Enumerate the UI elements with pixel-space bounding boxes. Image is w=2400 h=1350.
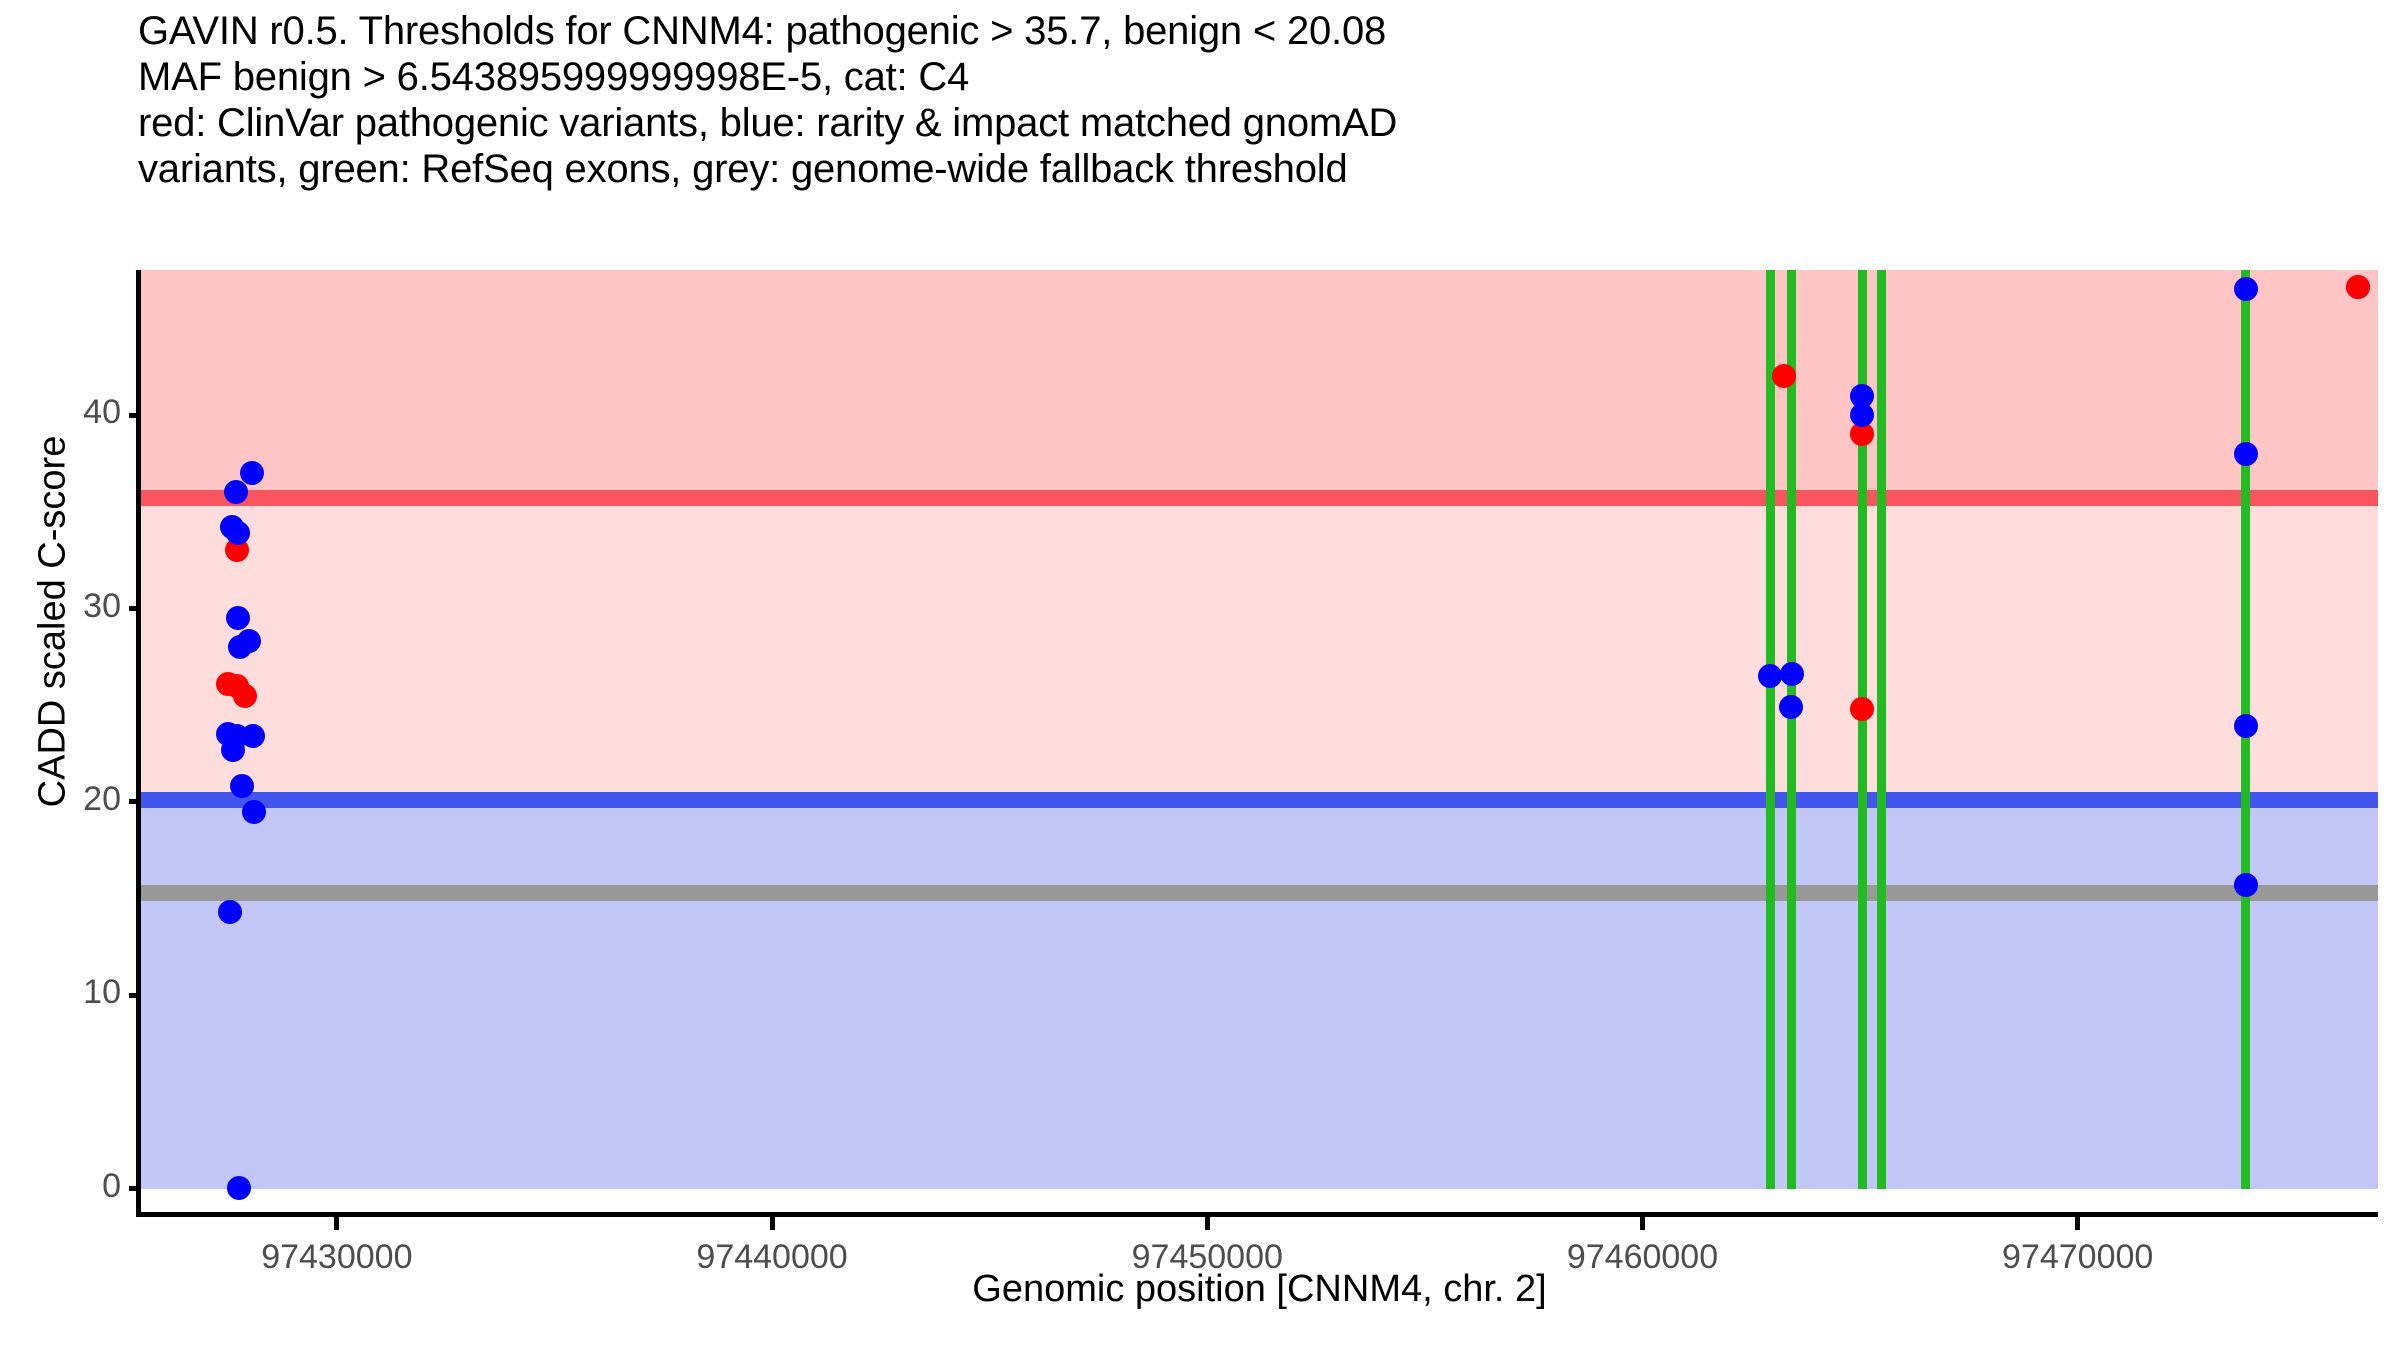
band-benign	[141, 800, 2378, 1188]
y-axis-tick	[129, 1186, 141, 1191]
gnomad-variant-point	[240, 461, 264, 485]
title-line-1: GAVIN r0.5. Thresholds for CNNM4: pathog…	[138, 8, 2338, 54]
gnomad-variant-point	[224, 480, 248, 504]
gnomad-variant-point	[2234, 277, 2258, 301]
y-axis-line	[136, 270, 141, 1212]
gnomad-variant-point	[226, 606, 250, 630]
x-axis-tick	[1640, 1216, 1645, 1230]
gnomad-variant-point	[1758, 664, 1782, 688]
title-line-3: red: ClinVar pathogenic variants, blue: …	[138, 100, 2338, 146]
exon-line	[1787, 270, 1796, 1189]
threshold-line-fallback	[141, 885, 2378, 901]
exon-line	[1766, 270, 1775, 1189]
gnomad-variant-point	[2234, 442, 2258, 466]
y-axis-tick	[129, 606, 141, 611]
gnomad-variant-point	[1779, 695, 1803, 719]
threshold-line-pathogenic	[141, 490, 2378, 506]
plot-panel: 0102030409743000097440000974500009746000…	[141, 270, 2378, 1212]
x-axis-tick	[1205, 1216, 1210, 1230]
title-line-2: MAF benign > 6.543895999999998E-5, cat: …	[138, 54, 2338, 100]
gnomad-variant-point	[230, 774, 254, 798]
x-axis-tick	[2075, 1216, 2080, 1230]
gnomad-variant-point	[227, 1176, 251, 1200]
y-axis-tick-label: 10	[83, 973, 121, 1012]
gnomad-variant-point	[228, 635, 252, 659]
y-axis-tick-label: 40	[83, 393, 121, 432]
pathogenic-variant-point	[2346, 275, 2370, 299]
gavin-cadd-scatter-figure: GAVIN r0.5. Thresholds for CNNM4: pathog…	[0, 0, 2400, 1350]
gnomad-variant-point	[1780, 662, 1804, 686]
pathogenic-variant-point	[1772, 364, 1796, 388]
figure-title-block: GAVIN r0.5. Thresholds for CNNM4: pathog…	[138, 8, 2338, 192]
y-axis-tick	[129, 993, 141, 998]
gnomad-variant-point	[242, 800, 266, 824]
x-axis-line	[136, 1212, 2378, 1217]
title-line-4: variants, green: RefSeq exons, grey: gen…	[138, 146, 2338, 192]
gnomad-variant-point	[221, 738, 245, 762]
x-axis-tick	[334, 1216, 339, 1230]
y-axis-tick	[129, 413, 141, 418]
exon-line	[1877, 270, 1886, 1189]
gnomad-variant-point	[2234, 873, 2258, 897]
y-axis-tick-label: 20	[83, 780, 121, 819]
y-axis-tick-label: 30	[83, 587, 121, 626]
gnomad-variant-point	[218, 900, 242, 924]
y-axis-tick	[129, 799, 141, 804]
gnomad-variant-point	[226, 521, 250, 545]
pathogenic-variant-point	[1850, 697, 1874, 721]
pathogenic-variant-point	[233, 684, 257, 708]
band-ambiguous	[141, 498, 2378, 800]
threshold-line-benign	[141, 792, 2378, 808]
y-axis-tick-label: 0	[102, 1167, 121, 1206]
gnomad-variant-point	[1850, 403, 1874, 427]
threshold-bands-layer	[141, 270, 2378, 1212]
band-pathogenic	[141, 270, 2378, 498]
x-axis-title: Genomic position [CNNM4, chr. 2]	[141, 1268, 2378, 1311]
y-axis-title: CADD scaled C-score	[32, 151, 75, 1093]
x-axis-tick	[770, 1216, 775, 1230]
gnomad-variant-point	[2234, 714, 2258, 738]
